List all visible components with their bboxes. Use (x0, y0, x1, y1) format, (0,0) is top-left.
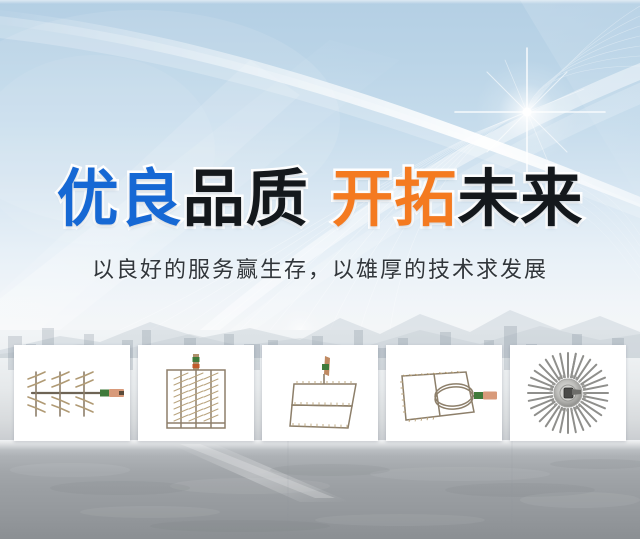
product-card-strip (14, 345, 626, 441)
headline-part-3: 开拓 (331, 162, 457, 235)
headline-space (309, 162, 332, 235)
frame-rack-with-ring-icon (388, 350, 500, 436)
ladder-rack-vertical-icon (140, 350, 252, 436)
product-card-2[interactable] (138, 345, 254, 441)
product-card-3[interactable] (262, 345, 378, 441)
headline-part-2: 品质 (183, 162, 309, 235)
product-card-4[interactable] (386, 345, 502, 441)
product-card-1[interactable] (14, 345, 130, 441)
radial-star-rack-icon (512, 350, 624, 436)
headline-part-1: 优良 (57, 162, 183, 235)
headline: 优良品质 开拓未来 (0, 163, 640, 235)
headline-part-4: 未来 (457, 162, 583, 235)
ground-surface (0, 440, 640, 539)
promo-banner: 优良品质 开拓未来 以良好的服务赢生存，以雄厚的技术求发展 (0, 0, 640, 539)
product-card-5[interactable] (510, 345, 626, 441)
frame-rack-double-icon (264, 350, 376, 436)
comb-rack-horizontal-icon (16, 350, 128, 436)
subtitle: 以良好的服务赢生存，以雄厚的技术求发展 (0, 256, 640, 286)
